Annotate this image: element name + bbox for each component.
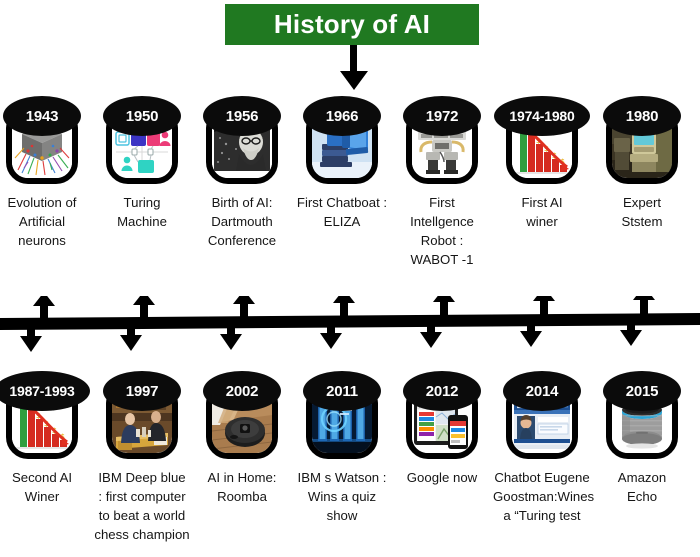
caption-line: ELIZA <box>293 212 391 231</box>
timeline-item-2015[interactable]: 2015 Amazon Echo <box>592 371 692 506</box>
year-badge: 2011 <box>303 371 381 411</box>
item-caption: Expert Ststem <box>592 193 692 231</box>
caption-line: Chatbot Eugene <box>493 468 591 487</box>
timeline-bottom-row: $$$ $$$ 1987-1993 Second AI Winer <box>0 371 700 557</box>
year-label: 1974-1980 <box>509 108 574 124</box>
caption-line: a “Turing test <box>493 506 591 525</box>
timeline-top-row: 1943 Evolution of Artificial neurons <box>0 96 700 286</box>
caption-line: IBM s Watson : <box>293 468 391 487</box>
year-badge: 1943 <box>3 96 81 136</box>
item-caption: Birth of AI: Dartmouth Conference <box>192 193 292 250</box>
caption-line: Evolution of <box>0 193 91 212</box>
item-caption: IBM s Watson : Wins a quiz show <box>292 468 392 525</box>
caption-line: neurons <box>0 231 91 250</box>
timeline-item-1997[interactable]: 1997 IBM Deep blue : first computer to b… <box>92 371 192 544</box>
year-badge: 1980 <box>603 96 681 136</box>
timeline-item-2002[interactable]: 2002 AI in Home: Roomba <box>192 371 292 506</box>
year-label: 1956 <box>226 108 259 125</box>
year-label: 2011 <box>326 383 358 400</box>
caption-line: chess champion <box>93 525 191 544</box>
year-badge: 1972 <box>403 96 481 136</box>
timeline-item-1943[interactable]: 1943 Evolution of Artificial neurons <box>0 96 92 250</box>
item-caption: AI in Home: Roomba <box>192 468 292 506</box>
item-caption: Evolution of Artificial neurons <box>0 193 92 250</box>
caption-line: Expert <box>593 193 691 212</box>
caption-line: : first computer <box>93 487 191 506</box>
year-badge: 1974-1980 <box>494 96 590 136</box>
timeline-item-2011[interactable]: 2011 IBM s Watson : Wins a quiz show <box>292 371 392 525</box>
timeline-item-1987-1993[interactable]: $$$ $$$ 1987-1993 Second AI Winer <box>0 371 92 506</box>
caption-line: WABOT -1 <box>393 250 491 269</box>
caption-line: winer <box>493 212 591 231</box>
caption-line: Turing <box>93 193 191 212</box>
item-caption: Google now <box>392 468 492 487</box>
item-caption: First AI winer <box>492 193 592 231</box>
year-label: 2002 <box>226 383 259 400</box>
item-caption: Turing Machine <box>92 193 192 231</box>
year-badge: 2015 <box>603 371 681 411</box>
caption-line: Ststem <box>593 212 691 231</box>
page-title: History of AI <box>274 9 430 40</box>
caption-line: Amazon <box>593 468 691 487</box>
caption-line: show <box>293 506 391 525</box>
year-badge: 1997 <box>103 371 181 411</box>
caption-line: Goostman:Wines <box>493 487 591 506</box>
year-badge: 2014 <box>503 371 581 411</box>
year-label: 1987-1993 <box>9 383 74 399</box>
year-badge: 1956 <box>203 96 281 136</box>
caption-line: Dartmouth <box>193 212 291 231</box>
caption-line: Artificial <box>0 212 91 231</box>
year-label: 1997 <box>126 383 159 400</box>
item-caption: Amazon Echo <box>592 468 692 506</box>
item-caption: First Intellgence Robot : WABOT -1 <box>392 193 492 269</box>
caption-line: Echo <box>593 487 691 506</box>
year-label: 2012 <box>426 383 459 400</box>
year-label: 2014 <box>526 383 559 400</box>
down-arrow-icon <box>337 45 371 90</box>
timeline-item-1974-1980[interactable]: $$$ $$$ 1974-1980 First AI winer <box>492 96 592 231</box>
timeline-item-1956[interactable]: 1956 Birth of AI: Dartmouth Conference <box>192 96 292 250</box>
caption-line: Roomba <box>193 487 291 506</box>
item-caption: Chatbot Eugene Goostman:Wines a “Turing … <box>492 468 592 525</box>
year-label: 1950 <box>126 108 159 125</box>
timeline-item-1980[interactable]: 1980 Expert Ststem <box>592 96 692 231</box>
year-badge: 2002 <box>203 371 281 411</box>
timeline-item-1972[interactable]: 1972 First Intellgence Robot : WABOT -1 <box>392 96 492 269</box>
caption-line: First Chatboat : <box>293 193 391 212</box>
timeline-item-2012[interactable]: 2012 Google now <box>392 371 492 487</box>
year-badge: 1950 <box>103 96 181 136</box>
caption-line: Machine <box>93 212 191 231</box>
caption-line: AI in Home: <box>193 468 291 487</box>
item-caption: IBM Deep blue : first computer to beat a… <box>92 468 192 544</box>
year-label: 1980 <box>626 108 659 125</box>
caption-line: Conference <box>193 231 291 250</box>
year-label: 1972 <box>426 108 459 125</box>
timeline-item-1966[interactable]: 1966 First Chatboat : ELIZA <box>292 96 392 231</box>
item-caption: First Chatboat : ELIZA <box>292 193 392 231</box>
caption-line: Birth of AI: <box>193 193 291 212</box>
year-badge: 1966 <box>303 96 381 136</box>
timeline-axis <box>0 296 700 366</box>
caption-line: Wins a quiz <box>293 487 391 506</box>
timeline-item-1950[interactable]: 1950 Turing Machine <box>92 96 192 231</box>
caption-line: IBM Deep blue <box>93 468 191 487</box>
caption-line: First <box>393 193 491 212</box>
year-label: 1966 <box>326 108 359 125</box>
year-label: 2015 <box>626 383 659 400</box>
caption-line: to beat a world <box>93 506 191 525</box>
timeline-item-2014[interactable]: 2014 Chatbot Eugene Goostman:Wines a “Tu… <box>492 371 592 525</box>
item-caption: Second AI Winer <box>0 468 92 506</box>
year-label: 1943 <box>26 108 59 125</box>
caption-line: Winer <box>0 487 91 506</box>
caption-line: First AI <box>493 193 591 212</box>
caption-line: Google now <box>393 468 491 487</box>
page-title-banner: History of AI <box>225 4 479 45</box>
year-badge: 2012 <box>403 371 481 411</box>
caption-line: Second AI <box>0 468 91 487</box>
caption-line: Intellgence <box>393 212 491 231</box>
caption-line: Robot : <box>393 231 491 250</box>
